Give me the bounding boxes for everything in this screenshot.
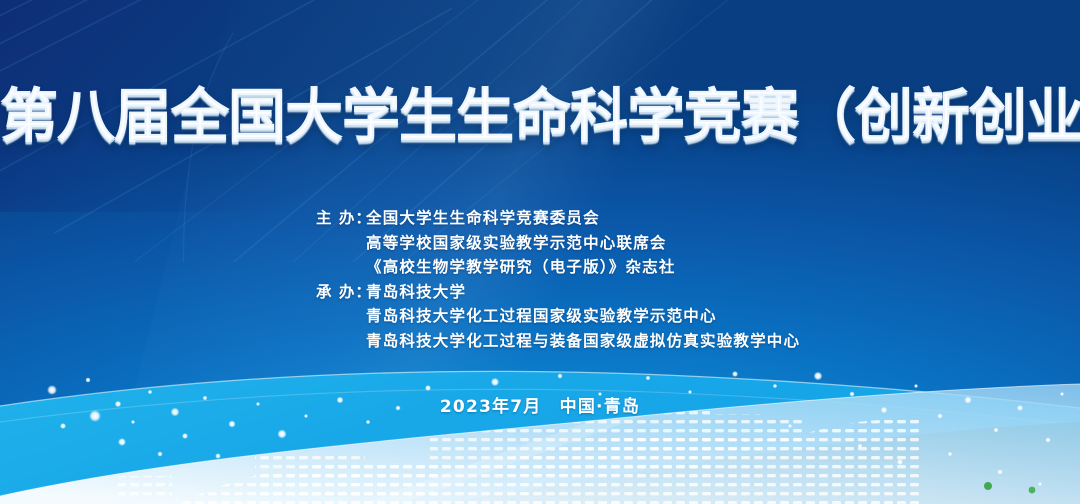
host-label: 主 办： — [316, 206, 366, 231]
conference-banner: 第八届全国大学生生命科学竞赛（创新创业类） 主 办： 全国大学生生命科学竞赛委员… — [0, 0, 1080, 504]
undertaker-line-3: 青岛科技大学化工过程与装备国家级虚拟仿真实验教学中心 — [366, 329, 800, 354]
decorative-waves — [0, 364, 1080, 504]
undertaker-row: 承 办： 青岛科技大学 青岛科技大学化工过程国家级实验教学示范中心 青岛科技大学… — [316, 280, 800, 354]
host-line-3: 《高校生物学教学研究（电子版）》杂志社 — [366, 255, 676, 280]
host-line-1: 全国大学生生命科学竞赛委员会 — [366, 206, 676, 231]
host-row: 主 办： 全国大学生生命科学竞赛委员会 高等学校国家级实验教学示范中心联席会 《… — [316, 206, 800, 280]
undertaker-line-1: 青岛科技大学 — [366, 280, 800, 305]
page-title: 第八届全国大学生生命科学竞赛（创新创业类） — [0, 86, 1080, 146]
undertaker-lines: 青岛科技大学 青岛科技大学化工过程国家级实验教学示范中心 青岛科技大学化工过程与… — [366, 280, 800, 354]
organizer-block: 主 办： 全国大学生生命科学竞赛委员会 高等学校国家级实验教学示范中心联席会 《… — [316, 206, 800, 353]
host-line-2: 高等学校国家级实验教学示范中心联席会 — [366, 231, 676, 256]
date-location: 2023年7月 中国·青岛 — [0, 392, 1080, 417]
title-container: 第八届全国大学生生命科学竞赛（创新创业类） — [0, 86, 1080, 146]
undertaker-label: 承 办： — [316, 280, 366, 305]
undertaker-line-2: 青岛科技大学化工过程国家级实验教学示范中心 — [366, 304, 800, 329]
host-lines: 全国大学生生命科学竞赛委员会 高等学校国家级实验教学示范中心联席会 《高校生物学… — [366, 206, 676, 280]
